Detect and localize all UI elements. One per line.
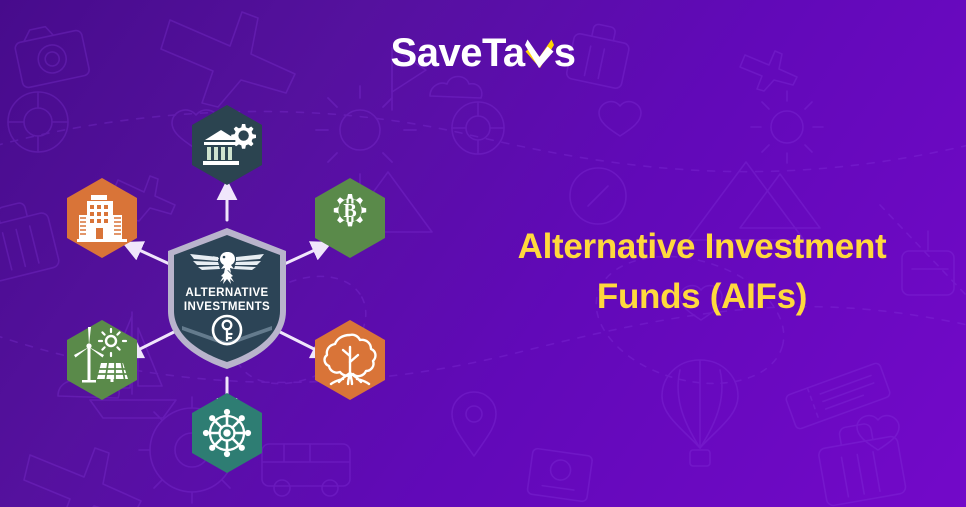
node-renewable-energy[interactable] <box>65 319 139 401</box>
brand-logo[interactable]: SaveTa s <box>0 33 966 73</box>
banner-root: SaveTa s Alternative Investment Funds (A… <box>0 0 966 507</box>
node-cryptocurrency[interactable]: B <box>313 177 387 259</box>
brand-logo-text: SaveTa s <box>391 33 576 73</box>
bitcoin-gear-icon: B <box>334 194 366 226</box>
logo-text-part-1: SaveTa <box>391 33 525 73</box>
logo-text-part-2: s <box>554 33 576 73</box>
ship-helm-icon <box>203 409 251 457</box>
page-title: Alternative Investment Funds (AIFs) <box>452 222 952 321</box>
node-maritime-shipping[interactable] <box>190 392 264 474</box>
svg-text:B: B <box>343 200 356 222</box>
page-title-line-1: Alternative Investment <box>452 222 952 272</box>
node-natural-resources[interactable] <box>313 319 387 401</box>
node-real-estate[interactable] <box>65 177 139 259</box>
node-institutional-banking[interactable] <box>190 104 264 186</box>
page-title-line-2: Funds (AIFs) <box>452 272 952 322</box>
alternative-investments-diagram: B <box>22 98 432 498</box>
logo-x-checkmark-icon <box>524 38 555 72</box>
alternative-investments-shield[interactable]: ALTERNATIVE INVESTMENTS <box>162 226 292 371</box>
